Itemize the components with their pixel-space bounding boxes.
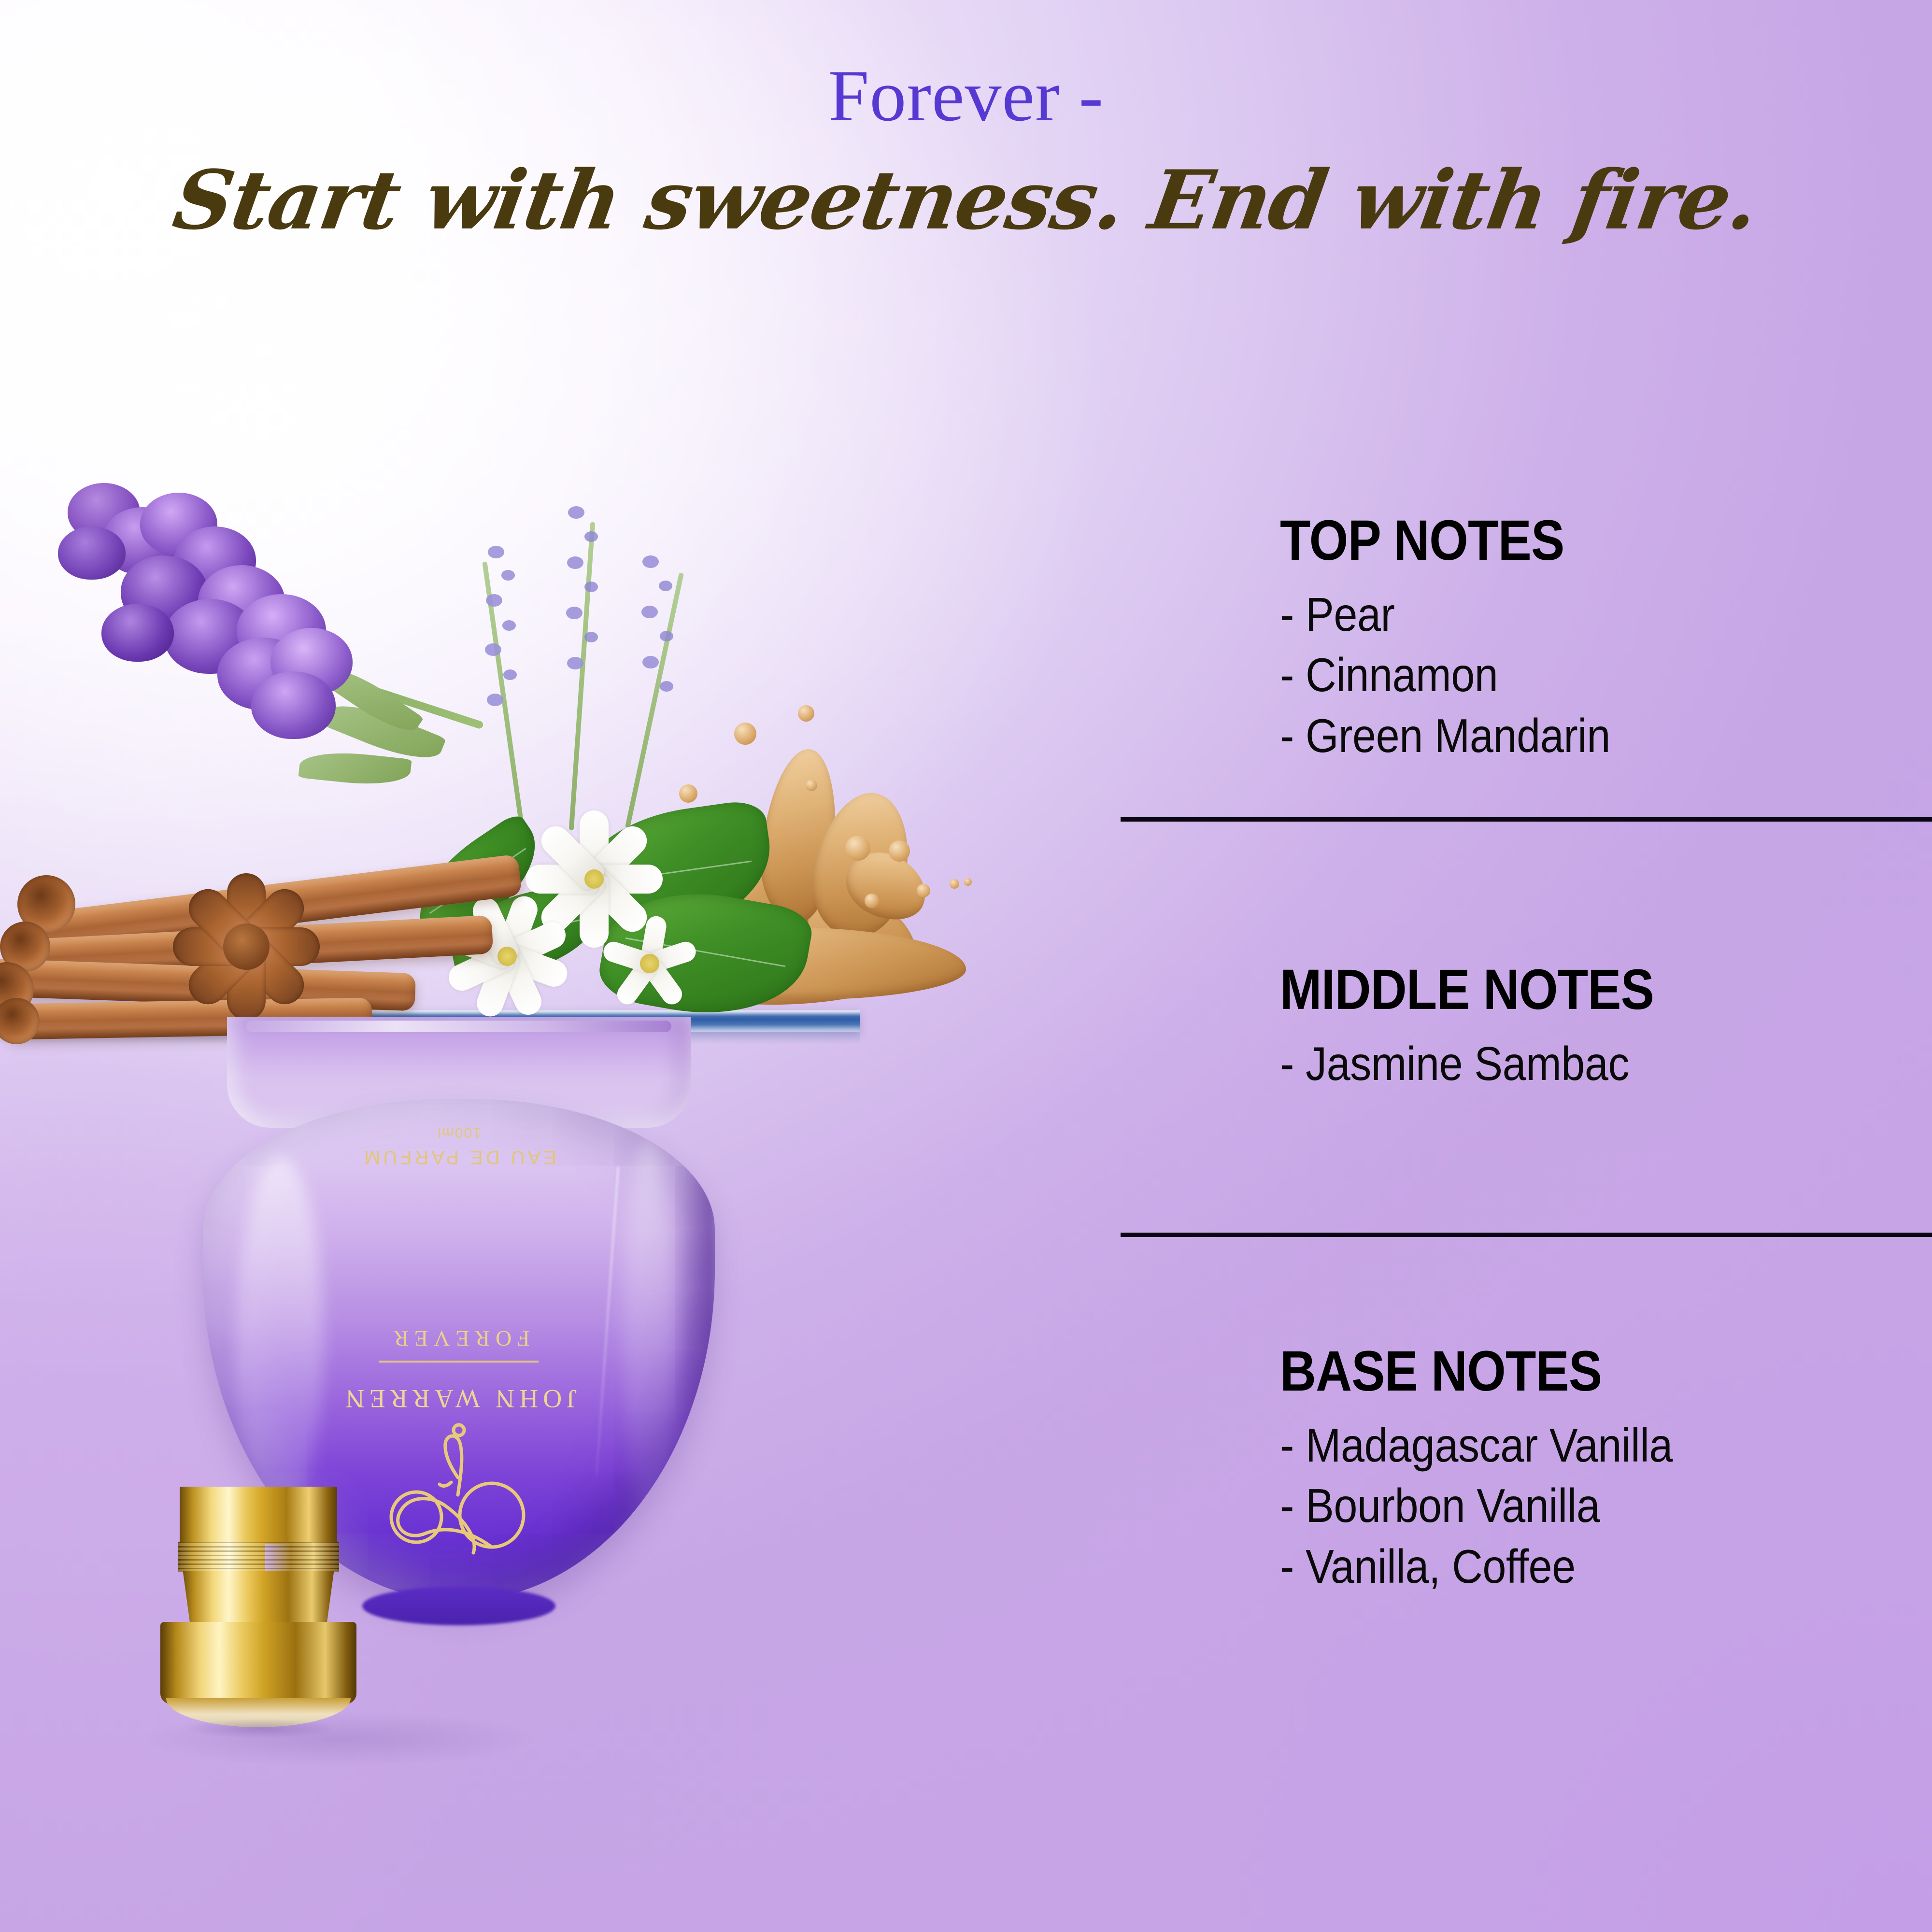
bottle-label-divider: [379, 1361, 539, 1363]
list-item: - Pear: [1280, 584, 1610, 645]
bottle-cap-waist: [180, 1571, 337, 1629]
bottle-brand-label: JOHN WARREN: [203, 1384, 715, 1414]
page-subtitle: Start with sweetness. End with fire.: [0, 159, 1932, 241]
notes-divider-1: [1121, 817, 1932, 822]
bottle-cap-shadow: [159, 1719, 362, 1742]
note-group-middle: MIDDLE NOTES - Jasmine Sambac: [1280, 961, 1705, 1094]
note-group-top: TOP NOTES - Pear - Cinnamon - Green Mand…: [1280, 512, 1647, 766]
note-group-base-heading: BASE NOTES: [1280, 1343, 1664, 1400]
note-group-middle-heading: MIDDLE NOTES: [1280, 961, 1654, 1018]
note-group-middle-list: - Jasmine Sambac: [1280, 1034, 1705, 1094]
list-item: - Cinnamon: [1280, 645, 1610, 705]
bottle-shadow: [87, 1700, 642, 1777]
perfume-product-poster: Forever - Start with sweetness. End with…: [0, 0, 1932, 1932]
note-group-base-list: - Madagascar Vanilla - Bourbon Vanilla -…: [1280, 1415, 1716, 1597]
list-item: - Green Mandarin: [1280, 706, 1610, 766]
bottle-cap-flange: [160, 1622, 356, 1704]
note-group-base: BASE NOTES - Madagascar Vanilla - Bourbo…: [1280, 1343, 1716, 1597]
bottle-concentration-label: EAU DE PARFUM: [203, 1146, 715, 1168]
list-item: - Bourbon Vanilla: [1280, 1476, 1673, 1536]
star-anise: [159, 869, 333, 1024]
bottle-neck-ring: [362, 1587, 555, 1625]
bottle-name-label: FOREVER: [203, 1326, 715, 1351]
bottle-cap-top: [180, 1487, 337, 1544]
list-item: - Vanilla, Coffee: [1280, 1536, 1673, 1597]
list-item: - Madagascar Vanilla: [1280, 1415, 1673, 1476]
list-item: - Jasmine Sambac: [1280, 1034, 1662, 1094]
bottle-volume-label: 100ml: [203, 1124, 715, 1140]
bottle-glass-seam: [596, 1167, 620, 1476]
note-group-top-heading: TOP NOTES: [1280, 512, 1603, 569]
jasmine-flower-bud: [594, 908, 705, 1019]
note-group-top-list: - Pear - Cinnamon - Green Mandarin: [1280, 584, 1647, 766]
page-title: Forever -: [0, 59, 1932, 132]
bottle-cap-ridges: [178, 1542, 339, 1572]
brand-monogram-icon: [372, 1422, 546, 1567]
notes-divider-2: [1121, 1233, 1932, 1237]
